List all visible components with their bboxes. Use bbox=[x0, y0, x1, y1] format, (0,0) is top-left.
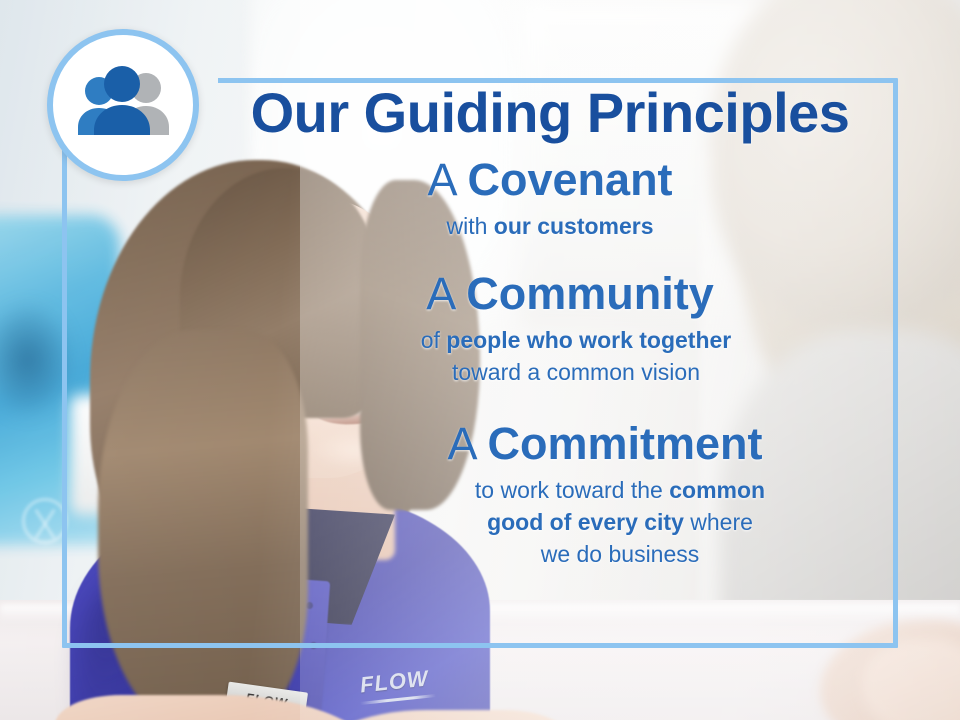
sub-plain: to work toward the bbox=[475, 477, 669, 503]
sub-line: we do business bbox=[340, 539, 900, 571]
sub-line: toward a common vision bbox=[252, 357, 900, 389]
sub-bold: people who work together bbox=[446, 327, 731, 353]
principle-keyword: Community bbox=[466, 268, 714, 319]
sub-bold: good of every city bbox=[487, 509, 684, 535]
principle-community-sub: of people who work together toward a com… bbox=[200, 325, 900, 388]
principle-keyword: Covenant bbox=[468, 154, 673, 205]
principle-article: A bbox=[447, 418, 475, 469]
principle-covenant-sub: with our customers bbox=[200, 211, 900, 243]
principle-article: A bbox=[427, 154, 455, 205]
sub-bold: common bbox=[669, 477, 765, 503]
sub-plain: where bbox=[684, 509, 753, 535]
principle-community-heading: A Community bbox=[200, 269, 900, 319]
page-title: Our Guiding Principles bbox=[200, 84, 900, 143]
principle-commitment: A Commitment to work toward the common g… bbox=[200, 419, 900, 571]
sub-line: to work toward the common bbox=[340, 475, 900, 507]
text-block: Our Guiding Principles A Covenant with o… bbox=[200, 84, 900, 570]
principle-commitment-heading: A Commitment bbox=[200, 419, 900, 469]
principle-article: A bbox=[426, 268, 454, 319]
sub-plain: of bbox=[421, 327, 447, 353]
principle-community: A Community of people who work together … bbox=[200, 269, 900, 389]
principle-covenant-heading: A Covenant bbox=[200, 155, 900, 205]
principle-covenant: A Covenant with our customers bbox=[200, 155, 900, 243]
sub-line: good of every city where bbox=[340, 507, 900, 539]
principle-keyword: Commitment bbox=[488, 418, 763, 469]
sub-plain: with bbox=[446, 213, 493, 239]
graphic-canvas: FLOW AUTOMOTIVE FLOW bbox=[0, 0, 960, 720]
people-group-icon bbox=[47, 29, 199, 181]
sub-line: of people who work together bbox=[252, 325, 900, 357]
principle-commitment-sub: to work toward the common good of every … bbox=[200, 475, 900, 570]
sub-bold: our customers bbox=[494, 213, 654, 239]
